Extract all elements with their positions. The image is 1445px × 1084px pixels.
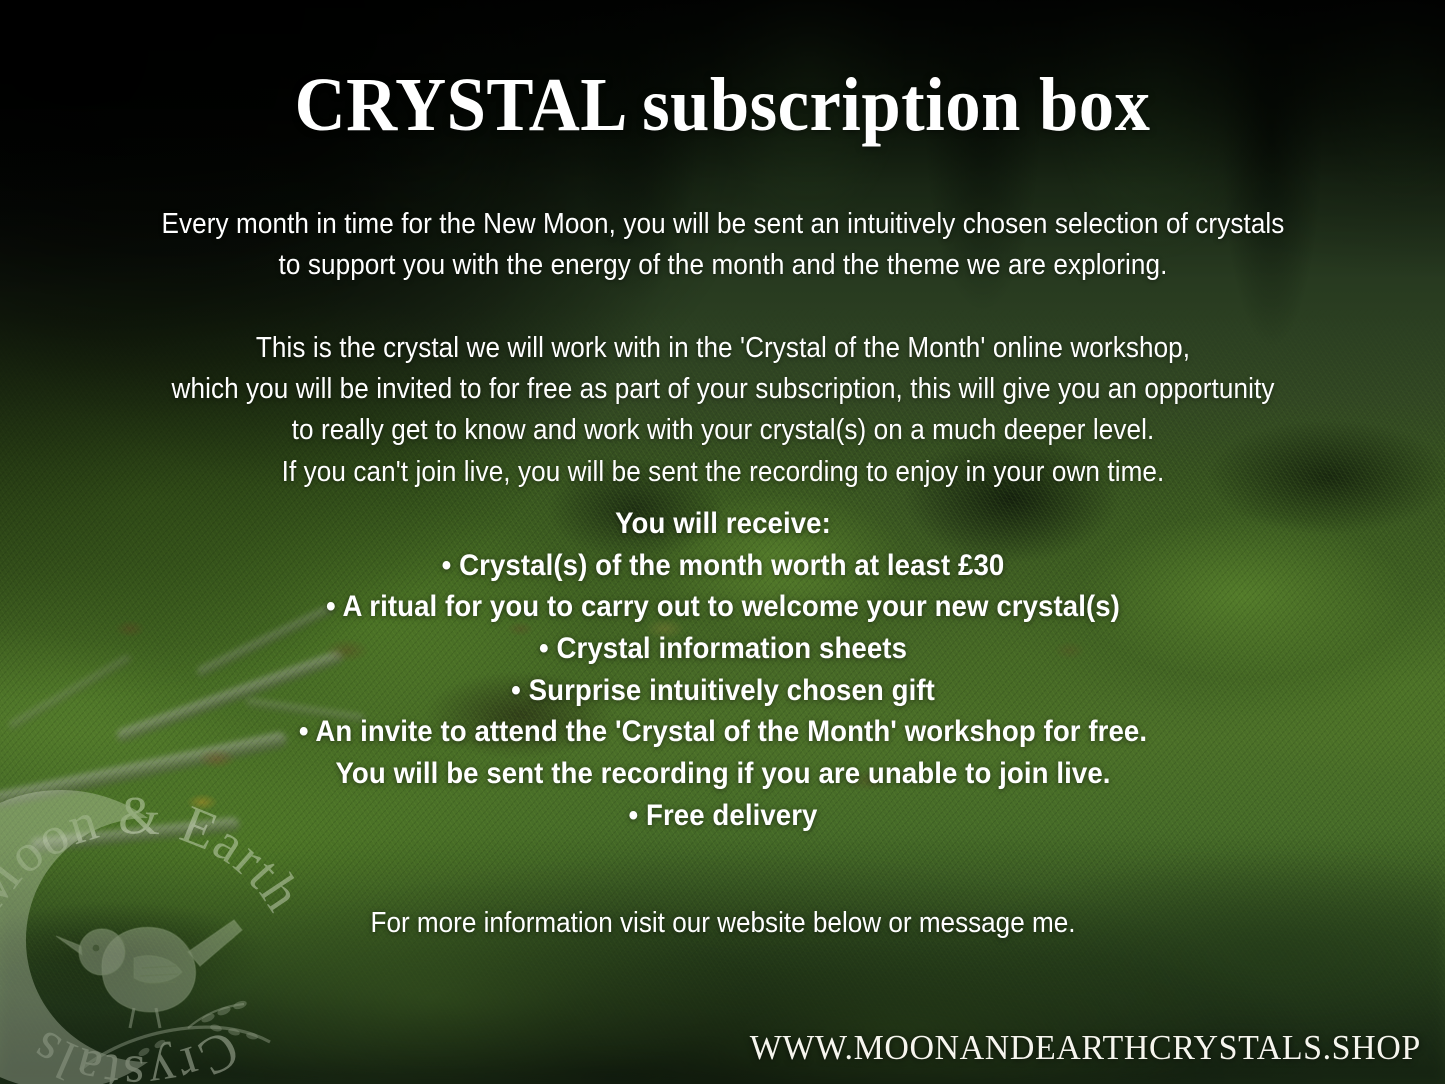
workshop-line-1: This is the crystal we will work with in… [39,328,1407,369]
list-item: • Crystal(s) of the month worth at least… [33,545,1413,587]
website-url[interactable]: WWW.MOONANDEARTHCRYSTALS.SHOP [750,1028,1421,1068]
intro-paragraph: Every month in time for the New Moon, yo… [39,204,1407,286]
receive-list-heading: You will receive: [33,503,1413,545]
subscription-box-graphic: Moon & Earth Crystals [0,0,1445,1084]
workshop-line-4: If you can't join live, you will be sent… [39,452,1407,493]
workshop-line-2: which you will be invited to for free as… [39,369,1407,410]
list-item: • An invite to attend the 'Crystal of th… [33,711,1413,753]
workshop-line-3: to really get to know and work with your… [39,410,1407,451]
content-overlay: CRYSTAL subscription box Every month in … [0,0,1445,1084]
page-title: CRYSTAL subscription box [51,65,1395,146]
intro-line-2: to support you with the energy of the mo… [39,245,1407,286]
list-item: You will be sent the recording if you ar… [33,753,1413,795]
list-item: • Surprise intuitively chosen gift [33,670,1413,712]
footer-note: For more information visit our website b… [138,903,1308,944]
workshop-paragraph: This is the crystal we will work with in… [39,328,1407,493]
receive-list: You will receive: • Crystal(s) of the mo… [33,503,1413,837]
list-item: • Free delivery [33,795,1413,837]
list-item: • A ritual for you to carry out to welco… [33,586,1413,628]
list-item: • Crystal information sheets [33,628,1413,670]
intro-line-1: Every month in time for the New Moon, yo… [39,204,1407,245]
